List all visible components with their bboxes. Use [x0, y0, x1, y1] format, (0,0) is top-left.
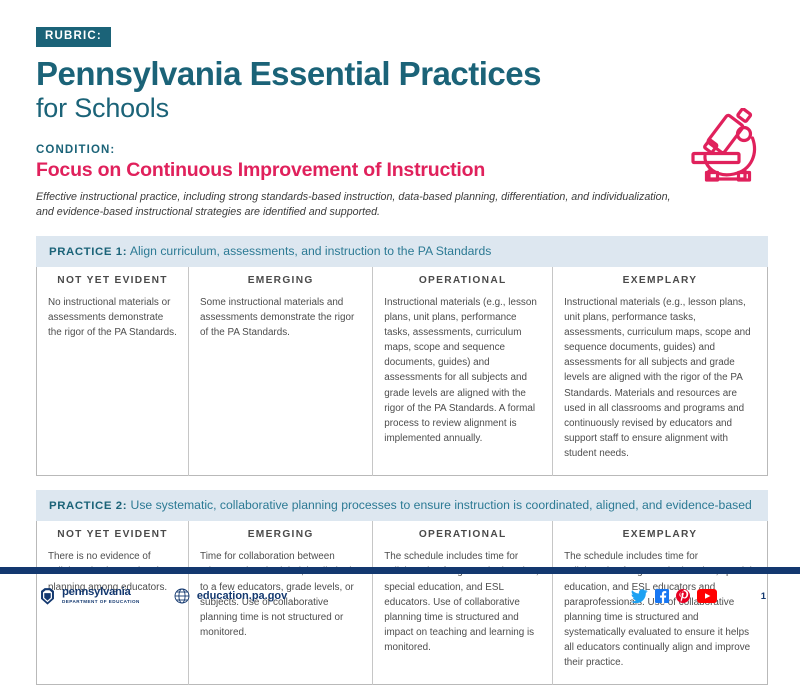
column-header-exemplary: EXEMPLARY: [553, 521, 768, 548]
column-header-emerging: EMERGING: [189, 267, 373, 294]
footer-divider-bar: [0, 567, 800, 574]
practice-2-number: PRACTICE 2:: [49, 500, 127, 512]
logo-name: pennsylvania: [62, 587, 140, 598]
practice-2-header: PRACTICE 2: Use systematic, collaborativ…: [36, 490, 768, 522]
practice-1-title: Align curriculum, assessments, and instr…: [130, 244, 492, 258]
pinterest-icon[interactable]: [676, 589, 690, 603]
condition-description: Effective instructional practice, includ…: [36, 190, 676, 221]
column-header-operational: OPERATIONAL: [373, 267, 553, 294]
page-number: 1: [761, 591, 766, 602]
practice-2-title: Use systematic, collaborative planning p…: [131, 498, 752, 512]
practice-1-cell-exemplary: Instructional materials (e.g., lesson pl…: [553, 294, 768, 475]
youtube-icon[interactable]: [697, 589, 717, 603]
column-header-not-yet-evident: NOT YET EVIDENT: [37, 521, 189, 548]
twitter-icon[interactable]: [631, 589, 648, 603]
table-header-row: NOT YET EVIDENT EMERGING OPERATIONAL EXE…: [37, 521, 768, 548]
table-header-row: NOT YET EVIDENT EMERGING OPERATIONAL EXE…: [37, 267, 768, 294]
table-row: No instructional materials or assessment…: [37, 294, 768, 475]
practice-block-1: PRACTICE 1: Align curriculum, assessment…: [36, 236, 768, 476]
practice-1-cell-emerging: Some instructional materials and assessm…: [189, 294, 373, 475]
column-header-operational: OPERATIONAL: [373, 521, 553, 548]
logo-department: DEPARTMENT OF EDUCATION: [62, 600, 140, 605]
practice-1-number: PRACTICE 1:: [49, 246, 127, 258]
practice-1-header: PRACTICE 1: Align curriculum, assessment…: [36, 236, 768, 268]
facebook-icon[interactable]: [655, 589, 669, 603]
condition-title: Focus on Continuous Improvement of Instr…: [36, 159, 768, 182]
page-subtitle: for Schools: [36, 93, 768, 124]
social-icons-group: [631, 589, 717, 603]
column-header-not-yet-evident: NOT YET EVIDENT: [37, 267, 189, 294]
column-header-exemplary: EXEMPLARY: [553, 267, 768, 294]
document-header: RUBRIC: Pennsylvania Essential Practices…: [0, 0, 800, 221]
rubric-badge: RUBRIC:: [36, 27, 111, 47]
practice-1-cell-not-yet-evident: No instructional materials or assessment…: [37, 294, 189, 475]
microscope-icon: [682, 108, 774, 186]
pa-department-of-education-logo: pennsylvania DEPARTMENT OF EDUCATION: [38, 587, 140, 606]
keystone-icon: [38, 587, 57, 606]
document-footer: pennsylvania DEPARTMENT OF EDUCATION edu…: [0, 574, 800, 618]
footer-right-group: 1: [631, 589, 772, 603]
page-title: Pennsylvania Essential Practices: [36, 56, 768, 93]
website-link[interactable]: education.pa.gov: [174, 588, 287, 604]
column-header-emerging: EMERGING: [189, 521, 373, 548]
practice-1-table: NOT YET EVIDENT EMERGING OPERATIONAL EXE…: [36, 267, 768, 476]
website-url: education.pa.gov: [197, 590, 287, 602]
condition-label: CONDITION:: [36, 144, 768, 156]
practice-1-cell-operational: Instructional materials (e.g., lesson pl…: [373, 294, 553, 475]
globe-icon: [174, 588, 190, 604]
document-page: RUBRIC: Pennsylvania Essential Practices…: [0, 0, 800, 618]
